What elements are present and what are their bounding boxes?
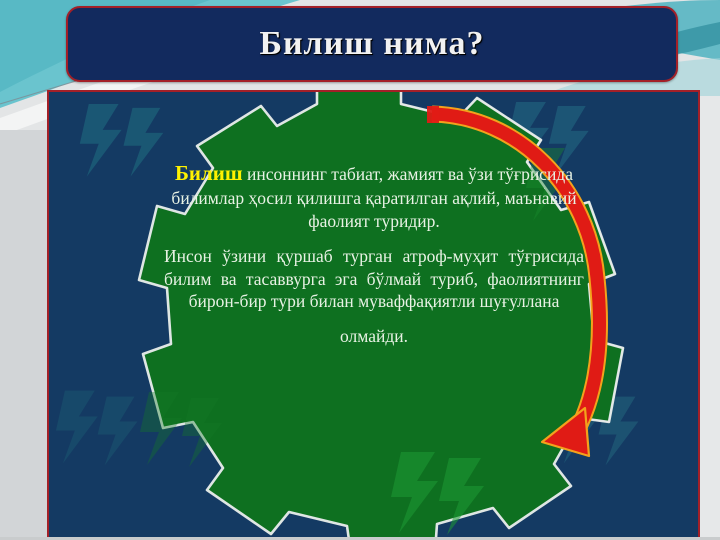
content-panel: Билиш инсоннинг табиат, жамият ва ўзи тў… — [47, 90, 700, 540]
paragraph-1: Билиш инсоннинг табиат, жамият ва ўзи тў… — [164, 160, 584, 233]
keyword-bilish: Билиш — [175, 161, 243, 185]
slide-title-box: Билиш нима? — [66, 6, 678, 82]
paragraph-2: Инсон ўзини қуршаб турган атроф-муҳит тў… — [164, 245, 584, 313]
page-title: Билиш нима? — [259, 25, 484, 63]
slide-canvas: Билиш нима? — [0, 0, 720, 540]
paragraph-3: олмайди. — [164, 325, 584, 348]
gear-text-block: Билиш инсоннинг табиат, жамият ва ўзи тў… — [164, 160, 584, 360]
